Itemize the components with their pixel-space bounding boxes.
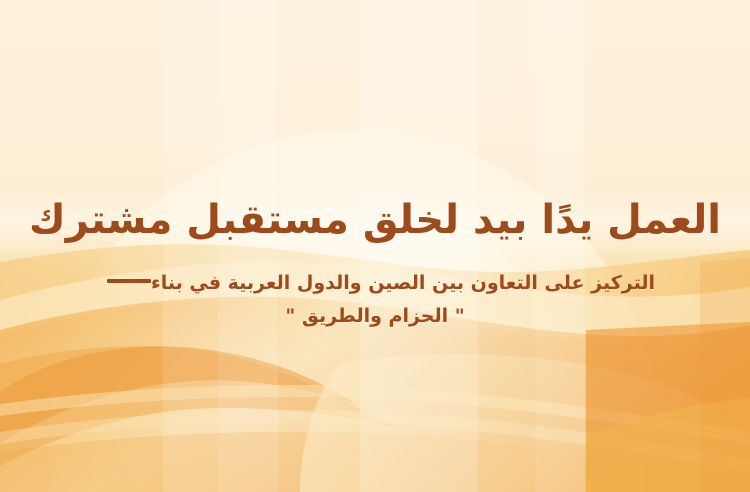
banner-content: العمل يدًا بيد لخلق مستقبل مشترك التركيز…	[0, 0, 750, 492]
banner-subtitle: التركيز على التعاون بين الصين والدول الع…	[51, 267, 699, 334]
subtitle-line-1: التركيز على التعاون بين الصين والدول الع…	[151, 272, 655, 294]
banner-headline: العمل يدًا بيد لخلق مستقبل مشترك	[29, 196, 721, 245]
em-dash-icon	[107, 279, 151, 283]
subtitle-line-2: " الحزام والطريق "	[51, 300, 699, 333]
subtitle-line-1-wrap: التركيز على التعاون بين الصين والدول الع…	[51, 267, 699, 300]
desert-banner: العمل يدًا بيد لخلق مستقبل مشترك التركيز…	[0, 0, 750, 492]
